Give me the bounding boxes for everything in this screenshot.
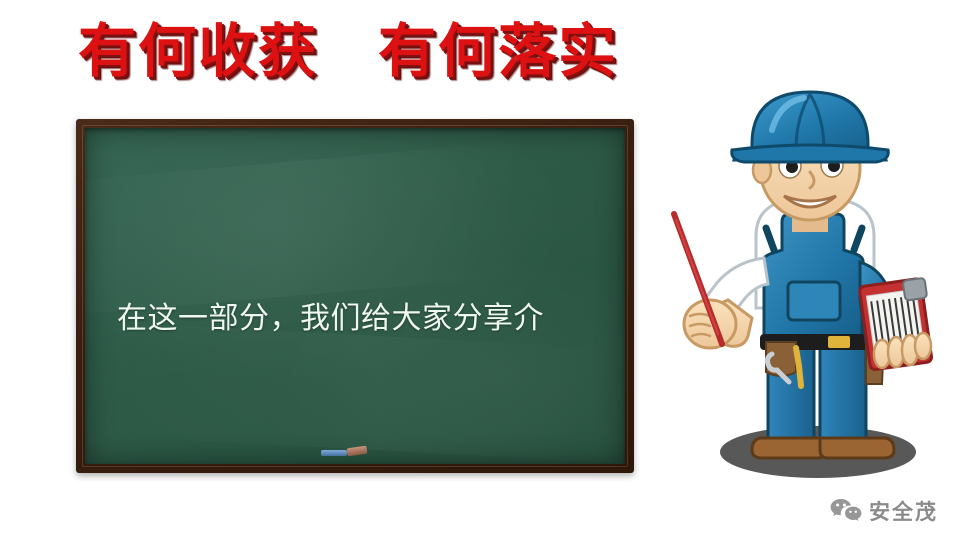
belt-buckle	[828, 336, 850, 348]
blue-chalk-icon	[321, 450, 347, 456]
right-boot	[820, 438, 894, 458]
overalls-pocket	[788, 282, 840, 320]
slide-canvas: 有何收获 有何落实 在这一部分，我们给大家分享介 绍了检维修作业安全。 对于此部…	[0, 0, 960, 540]
watermark-label: 安全茂	[869, 496, 938, 526]
worker-illustration	[660, 86, 960, 496]
page-title: 有何收获 有何落实	[78, 18, 618, 85]
helmet-brim	[732, 145, 889, 162]
watermark: 安全茂	[830, 496, 938, 526]
blackboard-line-2: 绍了检维修作业安全。	[117, 461, 617, 464]
blackboard-text-block: 在这一部分，我们给大家分享介 绍了检维修作业安全。 对于此部分内容，大家还有什么…	[117, 176, 617, 464]
blackboard: 在这一部分，我们给大家分享介 绍了检维修作业安全。 对于此部分内容，大家还有什么…	[76, 119, 634, 473]
wechat-icon	[830, 498, 862, 524]
clipboard-clip	[903, 278, 928, 301]
blackboard-line-1: 在这一部分，我们给大家分享介	[117, 290, 617, 347]
blackboard-surface: 在这一部分，我们给大家分享介 绍了检维修作业安全。 对于此部分内容，大家还有什么…	[85, 128, 625, 464]
left-boot	[752, 438, 826, 458]
right-leg	[820, 336, 866, 446]
